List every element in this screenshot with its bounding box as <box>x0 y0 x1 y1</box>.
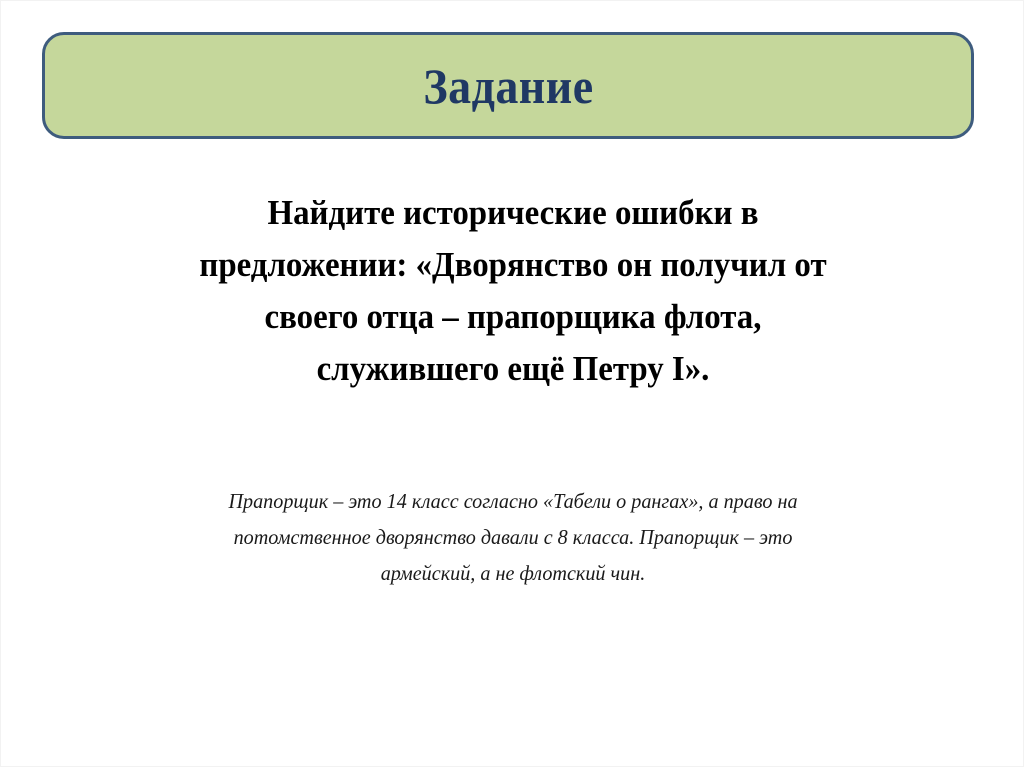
page-title: Задание <box>423 61 593 111</box>
question-line: своего отца – прапорщика флота, <box>90 291 936 343</box>
explanation-line: армейский, а не флотский чин. <box>98 555 927 591</box>
explanation-line: потомственное дворянство давали с 8 клас… <box>98 519 927 555</box>
title-banner: Задание <box>42 32 974 139</box>
explanation-block: Прапорщик – это 14 класс согласно «Табел… <box>81 483 945 591</box>
explanation-line: Прапорщик – это 14 класс согласно «Табел… <box>98 483 927 519</box>
question-line: Найдите исторические ошибки в <box>90 187 936 239</box>
slide-canvas: Задание Найдите исторические ошибки в пр… <box>0 0 1024 767</box>
question-block: Найдите исторические ошибки в предложени… <box>63 187 963 395</box>
question-line: служившего ещё Петру I». <box>90 343 936 395</box>
question-line: предложении: «Дворянство он получил от <box>90 239 936 291</box>
